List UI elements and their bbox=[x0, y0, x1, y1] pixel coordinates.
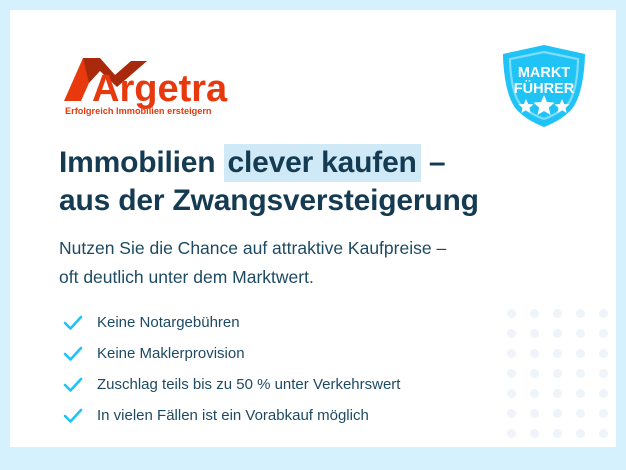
subtitle-line-1: Nutzen Sie die Chance auf attraktive Kau… bbox=[59, 234, 579, 263]
page-title: Immobilien clever kaufen – aus der Zwang… bbox=[59, 144, 559, 220]
dot bbox=[507, 409, 516, 418]
dot bbox=[599, 349, 608, 358]
headline-line-2: aus der Zwangsversteigerung bbox=[59, 182, 559, 220]
list-item-label: In vielen Fällen ist ein Vorabkauf mögli… bbox=[97, 406, 369, 426]
dot bbox=[599, 389, 608, 398]
dot bbox=[530, 309, 539, 318]
dot bbox=[576, 309, 585, 318]
dot bbox=[599, 329, 608, 338]
dot bbox=[507, 329, 516, 338]
benefits-list: Keine Notargebühren Keine Maklerprovisio… bbox=[62, 307, 502, 431]
dot bbox=[553, 349, 562, 358]
dot bbox=[507, 369, 516, 378]
check-icon bbox=[62, 405, 84, 427]
badge-line1: MARKT bbox=[518, 65, 570, 81]
list-item-label: Keine Notargebühren bbox=[97, 313, 240, 333]
dot bbox=[599, 369, 608, 378]
dot bbox=[507, 389, 516, 398]
markt-fuehrer-badge: MARKT FÜHRER bbox=[499, 43, 589, 129]
subtitle-line-2: oft deutlich unter dem Marktwert. bbox=[59, 263, 579, 292]
dot bbox=[530, 409, 539, 418]
dot bbox=[507, 349, 516, 358]
list-item-label: Keine Maklerprovision bbox=[97, 344, 245, 364]
dot bbox=[530, 349, 539, 358]
dot-grid-decoration bbox=[500, 303, 616, 447]
list-item: Zuschlag teils bis zu 50 % unter Verkehr… bbox=[62, 369, 502, 400]
dot bbox=[553, 369, 562, 378]
dot bbox=[576, 329, 585, 338]
dot bbox=[599, 429, 608, 438]
dot bbox=[530, 369, 539, 378]
dot bbox=[530, 329, 539, 338]
list-item-label: Zuschlag teils bis zu 50 % unter Verkehr… bbox=[97, 375, 400, 395]
logo-tagline: Erfolgreich Immobilien ersteigern bbox=[65, 106, 212, 116]
logo-wordmark: Argetra bbox=[92, 68, 228, 110]
list-item: In vielen Fällen ist ein Vorabkauf mögli… bbox=[62, 400, 502, 431]
dot bbox=[576, 409, 585, 418]
dot bbox=[507, 309, 516, 318]
argetra-logo[interactable]: Argetra Erfolgreich Immobilien ersteiger… bbox=[59, 53, 259, 118]
dot bbox=[553, 429, 562, 438]
dot bbox=[576, 389, 585, 398]
dot bbox=[507, 429, 516, 438]
check-icon bbox=[62, 343, 84, 365]
dot bbox=[599, 409, 608, 418]
headline-text-before: Immobilien bbox=[59, 146, 224, 179]
check-icon bbox=[62, 374, 84, 396]
dot bbox=[553, 409, 562, 418]
dot bbox=[553, 329, 562, 338]
headline-line-1: Immobilien clever kaufen – bbox=[59, 144, 559, 182]
dot bbox=[553, 309, 562, 318]
list-item: Keine Notargebühren bbox=[62, 307, 502, 338]
headline-highlight: clever kaufen bbox=[224, 144, 421, 182]
banner-card: Argetra Erfolgreich Immobilien ersteiger… bbox=[10, 10, 616, 447]
dot bbox=[576, 369, 585, 378]
list-item: Keine Maklerprovision bbox=[62, 338, 502, 369]
check-icon bbox=[62, 312, 84, 334]
promo-banner: Argetra Erfolgreich Immobilien ersteiger… bbox=[0, 0, 626, 470]
subtitle: Nutzen Sie die Chance auf attraktive Kau… bbox=[59, 234, 579, 292]
dot bbox=[530, 389, 539, 398]
dot bbox=[576, 349, 585, 358]
dot bbox=[530, 429, 539, 438]
dot bbox=[576, 429, 585, 438]
dot bbox=[599, 309, 608, 318]
headline-text-after: – bbox=[421, 146, 446, 179]
badge-line2: FÜHRER bbox=[514, 80, 575, 97]
dot bbox=[553, 389, 562, 398]
